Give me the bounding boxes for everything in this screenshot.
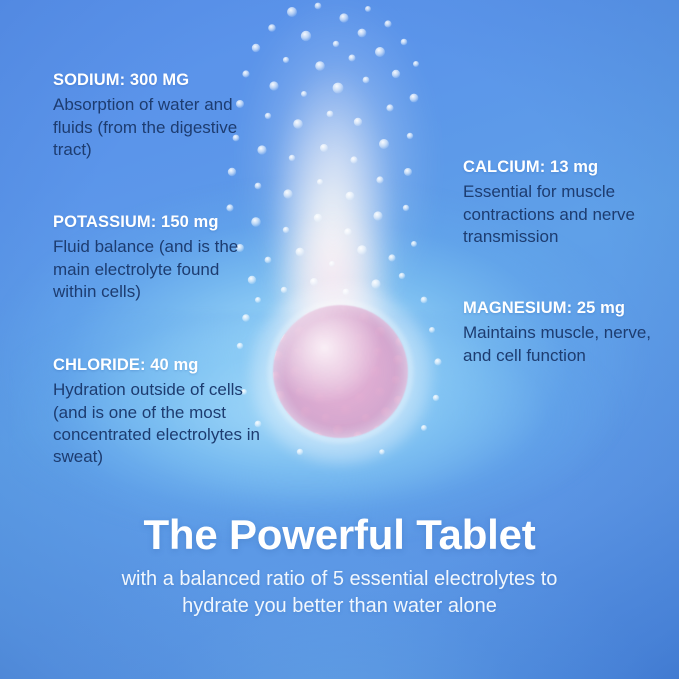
callout-magnesium-body: Maintains muscle, nerve, and cell functi… [463,322,663,366]
callout-sodium-body: Absorption of water and fluids (from the… [53,94,263,160]
headline-block: The Powerful Tablet with a balanced rati… [0,512,679,619]
callout-potassium-body: Fluid balance (and is the main electroly… [53,236,263,302]
poster-subtitle-line-1: with a balanced ratio of 5 essential ele… [0,566,679,592]
callout-sodium-title: SODIUM: 300 MG [53,70,263,91]
callout-magnesium-title: MAGNESIUM: 25 mg [463,298,663,319]
callout-chloride: CHLORIDE: 40 mg Hydration outside of cel… [53,355,263,468]
callout-calcium-body: Essential for muscle contractions and ne… [463,181,663,247]
callout-magnesium: MAGNESIUM: 25 mg Maintains muscle, nerve… [463,298,663,367]
poster-subtitle: with a balanced ratio of 5 essential ele… [0,566,679,619]
poster-title: The Powerful Tablet [0,512,679,557]
callout-calcium-title: CALCIUM: 13 mg [463,157,663,178]
callout-potassium-title: POTASSIUM: 150 mg [53,212,263,233]
callout-sodium: SODIUM: 300 MG Absorption of water and f… [53,70,263,161]
callout-potassium: POTASSIUM: 150 mg Fluid balance (and is … [53,212,263,303]
poster-subtitle-line-2: hydrate you better than water alone [0,593,679,619]
callout-chloride-title: CHLORIDE: 40 mg [53,355,263,376]
callout-calcium: CALCIUM: 13 mg Essential for muscle cont… [463,157,663,248]
product-poster: SODIUM: 300 MG Absorption of water and f… [0,0,679,679]
callout-chloride-body: Hydration outside of cells (and is one o… [53,379,263,467]
